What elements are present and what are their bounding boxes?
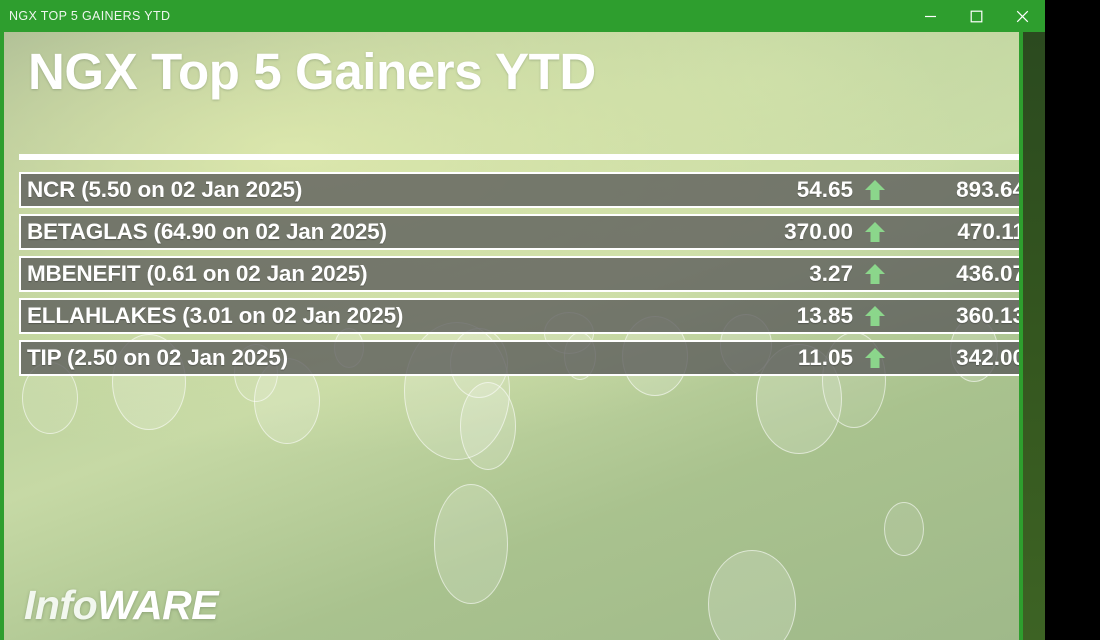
close-icon [1016,10,1029,23]
maximize-button[interactable] [953,0,999,32]
app-window: NGX TOP 5 GAINERS YTD [0,0,1100,640]
minimize-icon [924,10,937,23]
minimize-button[interactable] [907,0,953,32]
window-body: NGX Top 5 Gainers YTD NCR (5.50 on 02 Ja… [0,32,1045,640]
panel-inner: NGX Top 5 Gainers YTD NCR (5.50 on 02 Ja… [11,32,1023,640]
window-controls [907,0,1045,32]
row-price: 13.85 [713,303,853,329]
title-divider [19,154,1023,160]
row-change-percent: 360.13% [897,303,1023,329]
up-arrow-icon [853,178,897,202]
row-change-percent: 436.07% [897,261,1023,287]
row-change-percent: 470.11% [897,219,1023,245]
title-bar: NGX TOP 5 GAINERS YTD [0,0,1045,32]
row-security-label: BETAGLAS (64.90 on 02 Jan 2025) [27,219,713,245]
up-arrow-icon [853,262,897,286]
brand-logo-part-one: Info [24,582,97,628]
up-arrow-icon [853,346,897,370]
row-security-label: NCR (5.50 on 02 Jan 2025) [27,177,713,203]
table-row[interactable]: BETAGLAS (64.90 on 02 Jan 2025) 370.00 4… [19,214,1023,250]
row-security-label: MBENEFIT (0.61 on 02 Jan 2025) [27,261,713,287]
row-price: 370.00 [713,219,853,245]
row-security-label: ELLAHLAKES (3.01 on 02 Jan 2025) [27,303,713,329]
row-security-label: TIP (2.50 on 02 Jan 2025) [27,345,713,371]
table-row[interactable]: NCR (5.50 on 02 Jan 2025) 54.65 893.64% [19,172,1023,208]
row-change-percent: 342.00% [897,345,1023,371]
content-panel: NGX Top 5 Gainers YTD NCR (5.50 on 02 Ja… [4,32,1023,640]
panel-right-strip [1023,32,1045,640]
row-price: 3.27 [713,261,853,287]
maximize-icon [970,10,983,23]
table-row[interactable]: MBENEFIT (0.61 on 02 Jan 2025) 3.27 436.… [19,256,1023,292]
row-price: 54.65 [713,177,853,203]
brand-logo-part-two: WARE [97,582,218,628]
table-row[interactable]: ELLAHLAKES (3.01 on 02 Jan 2025) 13.85 3… [19,298,1023,334]
close-button[interactable] [999,0,1045,32]
up-arrow-icon [853,304,897,328]
gainers-table: NCR (5.50 on 02 Jan 2025) 54.65 893.64% … [19,172,1023,382]
brand-logo: InfoWARE [24,585,218,626]
table-row[interactable]: TIP (2.50 on 02 Jan 2025) 11.05 342.00% [19,340,1023,376]
window-title: NGX TOP 5 GAINERS YTD [0,9,907,23]
row-change-percent: 893.64% [897,177,1023,203]
up-arrow-icon [853,220,897,244]
row-price: 11.05 [713,345,853,371]
page-title: NGX Top 5 Gainers YTD [28,46,596,97]
